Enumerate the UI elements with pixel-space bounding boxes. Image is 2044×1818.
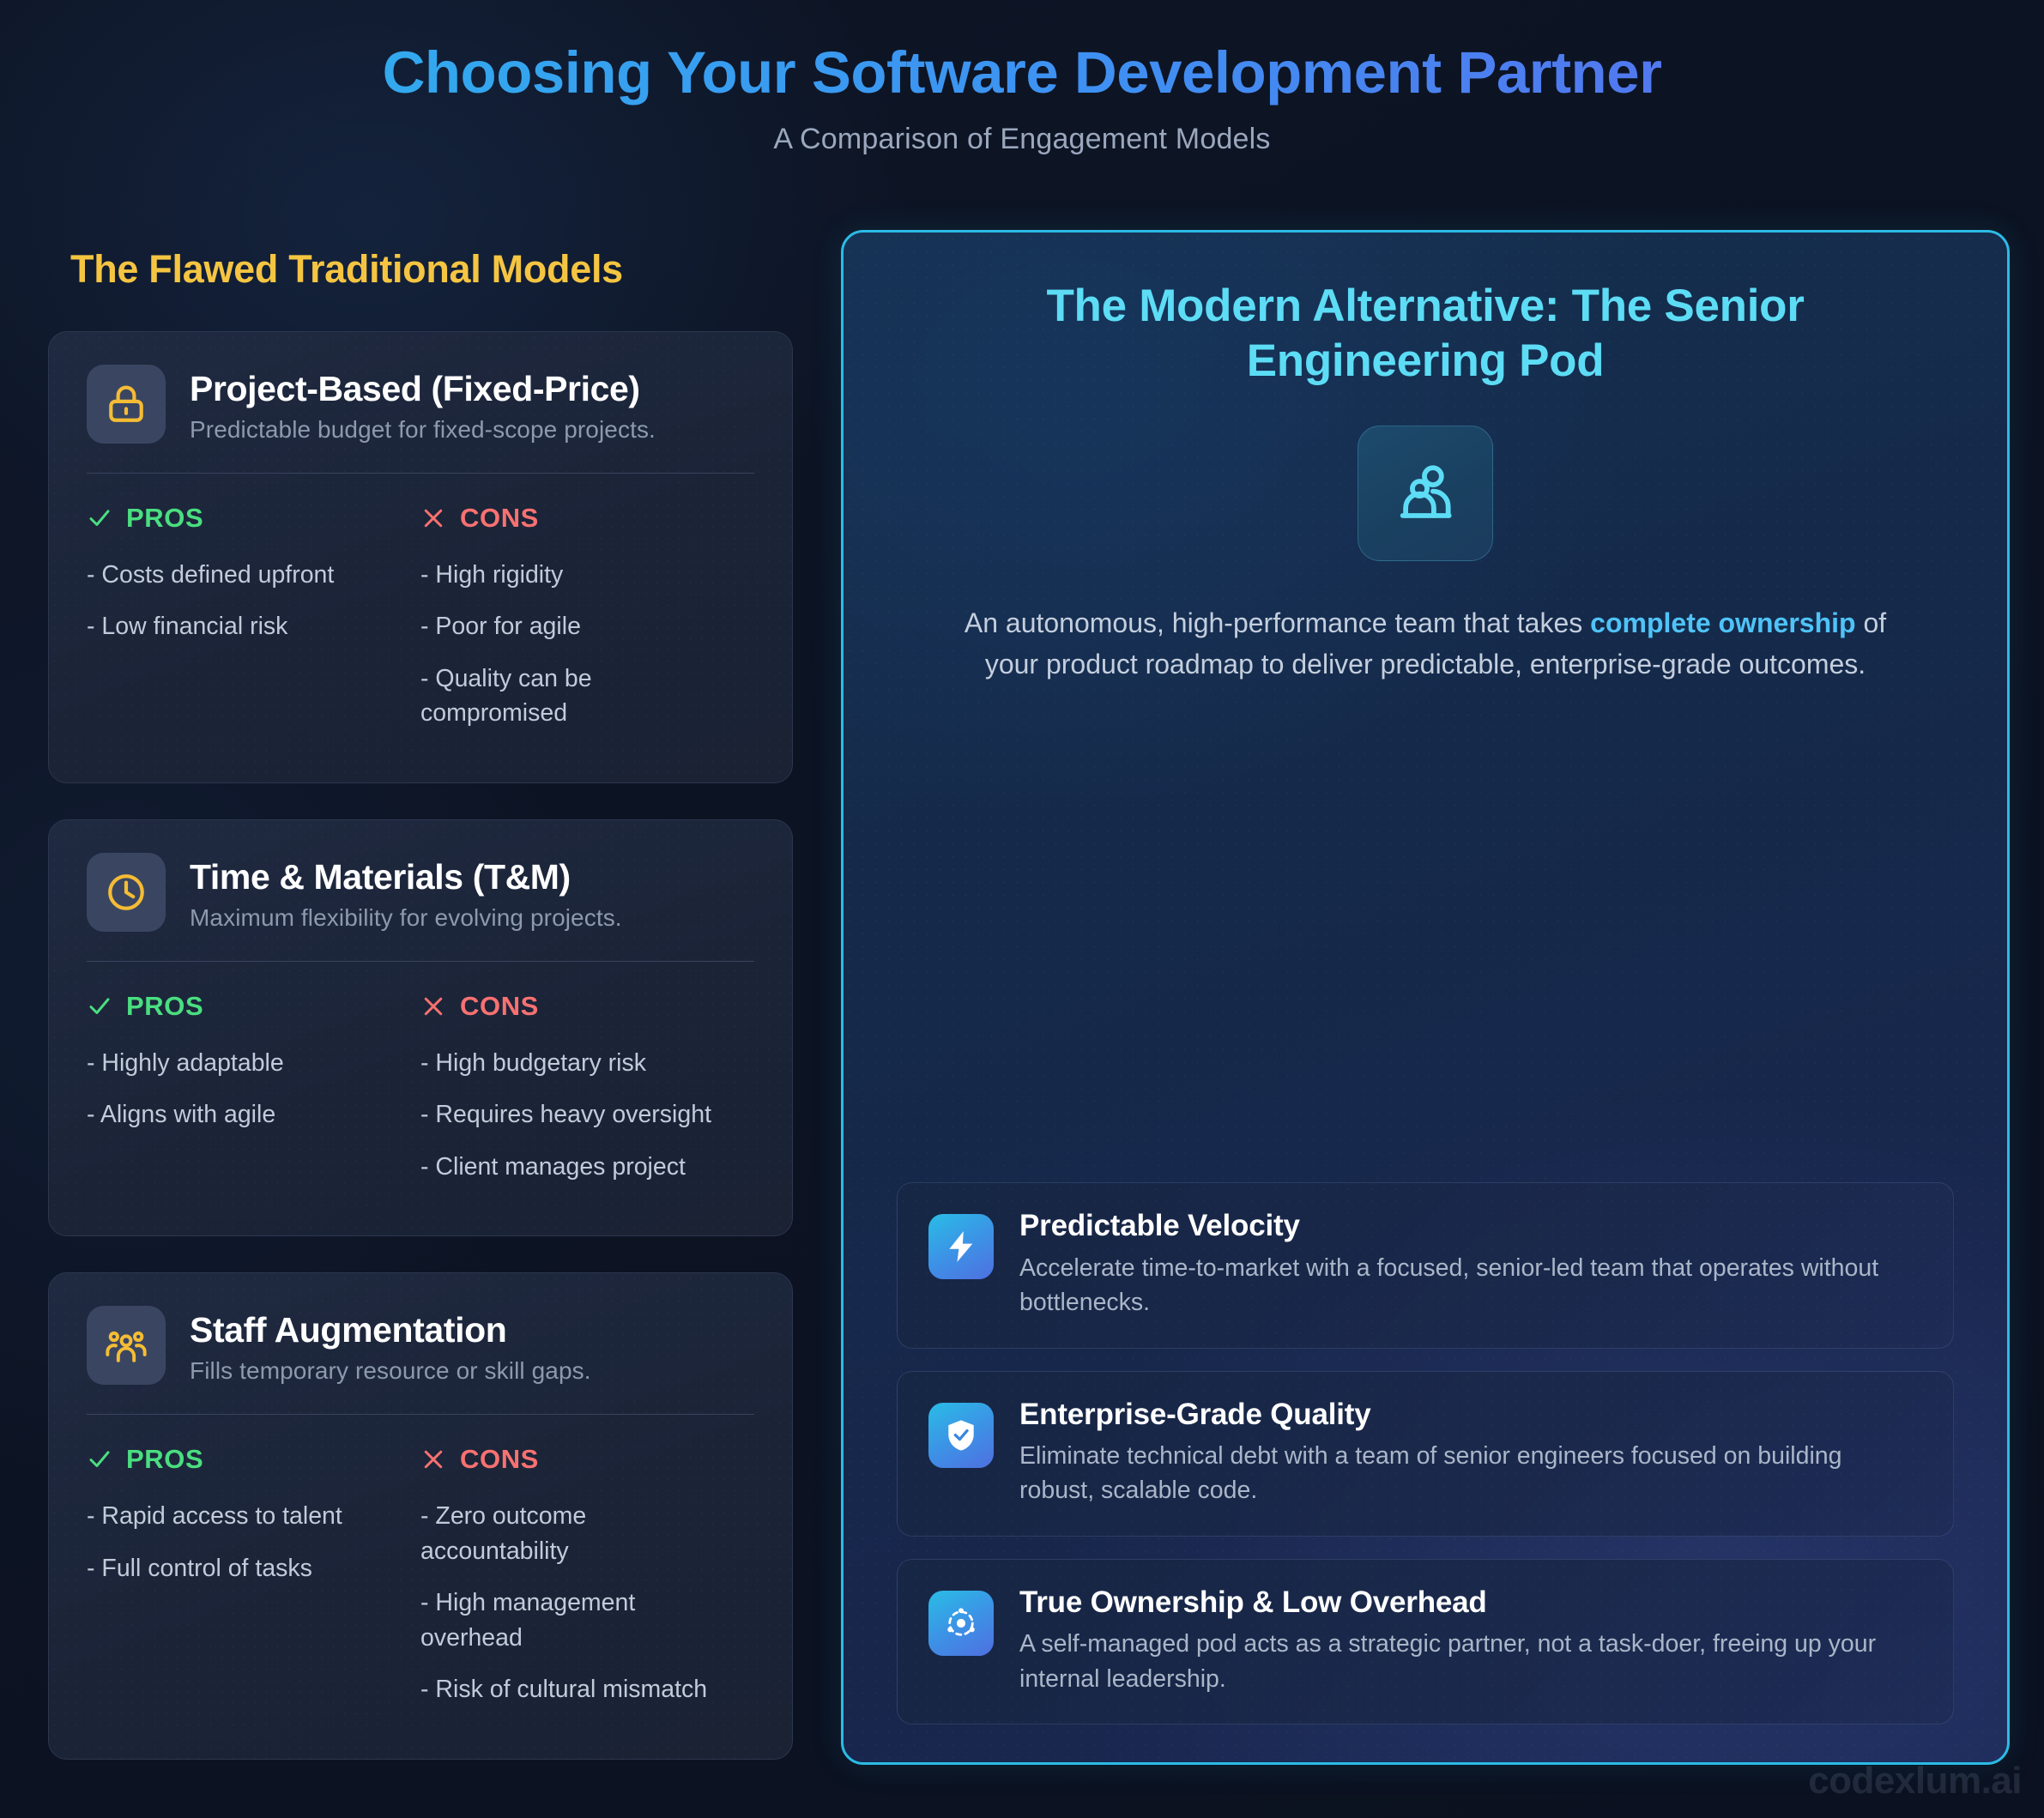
pros-cons-grid: PROS - Highly adaptable - Aligns with ag…: [87, 991, 754, 1201]
card-header-text: Project-Based (Fixed-Price) Predictable …: [190, 365, 656, 444]
benefits-list: Predictable Velocity Accelerate time-to-…: [897, 1182, 1954, 1724]
clock-icon-tile: [87, 853, 166, 932]
benefit-description: Accelerate time-to-market with a focused…: [1019, 1251, 1912, 1320]
team-pod-icon: [1390, 458, 1460, 528]
benefit-card-predictable-velocity: Predictable Velocity Accelerate time-to-…: [897, 1182, 1954, 1348]
lightning-bolt-icon-tile: [928, 1214, 994, 1279]
model-card-project-based: Project-Based (Fixed-Price) Predictable …: [48, 331, 793, 783]
pros-item: - Rapid access to talent: [87, 1499, 405, 1533]
pros-item: - Costs defined upfront: [87, 558, 405, 592]
benefit-card-true-ownership: True Ownership & Low Overhead A self-man…: [897, 1559, 1954, 1724]
pros-label: PROS: [126, 991, 203, 1022]
card-header: Staff Augmentation Fills temporary resou…: [87, 1306, 754, 1385]
card-divider: [87, 961, 754, 962]
users-group-icon-tile: [87, 1306, 166, 1385]
page-header: Choosing Your Software Development Partn…: [0, 0, 2044, 156]
cons-item: - Quality can be compromised: [420, 661, 739, 731]
pros-item: - Full control of tasks: [87, 1551, 405, 1585]
page-subtitle: A Comparison of Engagement Models: [0, 123, 2044, 156]
pros-cons-grid: PROS - Rapid access to talent - Full con…: [87, 1444, 754, 1724]
clock-icon: [105, 871, 148, 914]
users-group-icon: [105, 1324, 148, 1367]
cons-header: CONS: [420, 1444, 739, 1475]
shield-check-icon-tile: [928, 1403, 994, 1468]
model-card-staff-augmentation: Staff Augmentation Fills temporary resou…: [48, 1272, 793, 1759]
cons-label: CONS: [460, 503, 539, 534]
network-nodes-icon: [943, 1605, 979, 1641]
cons-item: - Poor for agile: [420, 609, 739, 643]
page-title: Choosing Your Software Development Partn…: [0, 39, 2044, 106]
cons-header: CONS: [420, 503, 739, 534]
x-icon: [420, 994, 446, 1019]
card-header-text: Staff Augmentation Fills temporary resou…: [190, 1306, 591, 1385]
pros-header: PROS: [87, 1444, 405, 1475]
card-subtitle: Maximum flexibility for evolving project…: [190, 904, 622, 932]
card-title: Project-Based (Fixed-Price): [190, 370, 656, 409]
pod-panel: The Modern Alternative: The Senior Engin…: [841, 230, 2010, 1765]
x-icon: [420, 1447, 446, 1472]
check-icon: [87, 994, 112, 1019]
pros-item: - Low financial risk: [87, 609, 405, 643]
infographic-page: Choosing Your Software Development Partn…: [0, 0, 2044, 1818]
cons-item: - Risk of cultural mismatch: [420, 1672, 739, 1706]
lock-icon: [105, 383, 148, 426]
pros-column: PROS - Highly adaptable - Aligns with ag…: [87, 991, 420, 1201]
x-icon: [420, 505, 446, 531]
lightning-bolt-icon: [943, 1229, 979, 1265]
cons-item: - High management overhead: [420, 1585, 739, 1655]
card-title: Staff Augmentation: [190, 1311, 591, 1350]
card-divider: [87, 1414, 754, 1415]
cons-label: CONS: [460, 991, 539, 1022]
cons-item: - High budgetary risk: [420, 1046, 739, 1080]
benefit-text: Enterprise-Grade Quality Eliminate techn…: [1019, 1398, 1912, 1508]
pros-header: PROS: [87, 991, 405, 1022]
pod-description: An autonomous, high-performance team tha…: [940, 602, 1910, 685]
cons-item: - Requires heavy oversight: [420, 1097, 739, 1132]
cons-header: CONS: [420, 991, 739, 1022]
shield-check-icon: [943, 1417, 979, 1453]
card-header-text: Time & Materials (T&M) Maximum flexibili…: [190, 853, 622, 932]
benefit-title: Enterprise-Grade Quality: [1019, 1398, 1912, 1432]
benefit-text: Predictable Velocity Accelerate time-to-…: [1019, 1209, 1912, 1320]
pros-header: PROS: [87, 503, 405, 534]
modern-alternative-column: The Modern Alternative: The Senior Engin…: [841, 230, 2044, 1818]
pros-item: - Aligns with agile: [87, 1097, 405, 1132]
left-column-heading: The Flawed Traditional Models: [70, 247, 793, 292]
cons-label: CONS: [460, 1444, 539, 1475]
card-subtitle: Predictable budget for fixed-scope proje…: [190, 416, 656, 444]
card-header: Project-Based (Fixed-Price) Predictable …: [87, 365, 754, 444]
card-title: Time & Materials (T&M): [190, 858, 622, 897]
check-icon: [87, 505, 112, 531]
pros-label: PROS: [126, 503, 203, 534]
cons-item: - High rigidity: [420, 558, 739, 592]
lock-icon-tile: [87, 365, 166, 444]
pod-description-highlight: complete ownership: [1590, 607, 1855, 638]
pod-panel-title: The Modern Alternative: The Senior Engin…: [983, 279, 1867, 388]
pros-cons-grid: PROS - Costs defined upfront - Low finan…: [87, 503, 754, 748]
cons-item: - Zero outcome accountability: [420, 1499, 739, 1568]
card-divider: [87, 473, 754, 474]
check-icon: [87, 1447, 112, 1472]
pod-description-part1: An autonomous, high-performance team tha…: [965, 607, 1590, 638]
pros-column: PROS - Rapid access to talent - Full con…: [87, 1444, 420, 1724]
card-header: Time & Materials (T&M) Maximum flexibili…: [87, 853, 754, 932]
card-subtitle: Fills temporary resource or skill gaps.: [190, 1357, 591, 1385]
model-card-time-materials: Time & Materials (T&M) Maximum flexibili…: [48, 819, 793, 1236]
pros-item: - Highly adaptable: [87, 1046, 405, 1080]
benefit-description: Eliminate technical debt with a team of …: [1019, 1439, 1912, 1508]
pros-label: PROS: [126, 1444, 203, 1475]
benefit-text: True Ownership & Low Overhead A self-man…: [1019, 1585, 1912, 1696]
content-columns: The Flawed Traditional Models Project-Ba…: [0, 230, 2044, 1818]
cons-column: CONS - High budgetary risk - Requires he…: [420, 991, 754, 1201]
cons-item: - Client manages project: [420, 1150, 739, 1184]
cons-column: CONS - High rigidity - Poor for agile - …: [420, 503, 754, 748]
team-pod-icon-tile: [1358, 426, 1493, 561]
benefit-card-enterprise-grade-quality: Enterprise-Grade Quality Eliminate techn…: [897, 1371, 1954, 1537]
benefit-title: Predictable Velocity: [1019, 1209, 1912, 1243]
benefit-title: True Ownership & Low Overhead: [1019, 1585, 1912, 1620]
pros-column: PROS - Costs defined upfront - Low finan…: [87, 503, 420, 748]
traditional-models-column: The Flawed Traditional Models Project-Ba…: [0, 230, 841, 1818]
watermark: codexlum.ai: [1808, 1760, 2022, 1803]
benefit-description: A self-managed pod acts as a strategic p…: [1019, 1627, 1912, 1696]
network-nodes-icon-tile: [928, 1591, 994, 1656]
cons-column: CONS - Zero outcome accountability - Hig…: [420, 1444, 754, 1724]
